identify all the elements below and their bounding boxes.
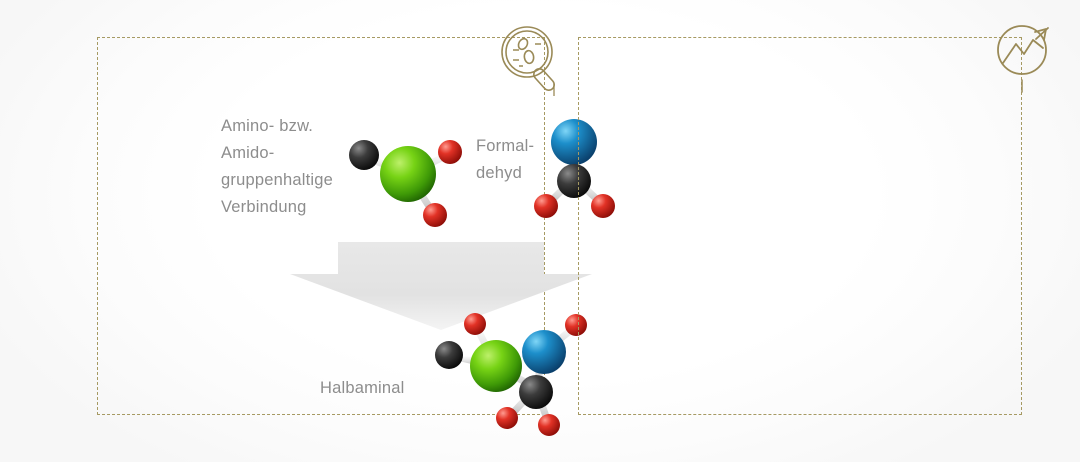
amino-compound-molecule (338, 122, 468, 234)
halbaminal-molecule (418, 306, 604, 440)
reaction-diagram-panel: Amino- bzw. Amido- gruppenhaltige Verbin… (97, 37, 545, 415)
magnifier-molecule-icon (497, 22, 569, 98)
chart-panel: Formaldehydgehalt in der Raumluft in Pro… (578, 37, 1022, 415)
trend-chart-icon (988, 18, 1062, 96)
screenshot-root: Amino- bzw. Amido- gruppenhaltige Verbin… (0, 0, 1080, 462)
